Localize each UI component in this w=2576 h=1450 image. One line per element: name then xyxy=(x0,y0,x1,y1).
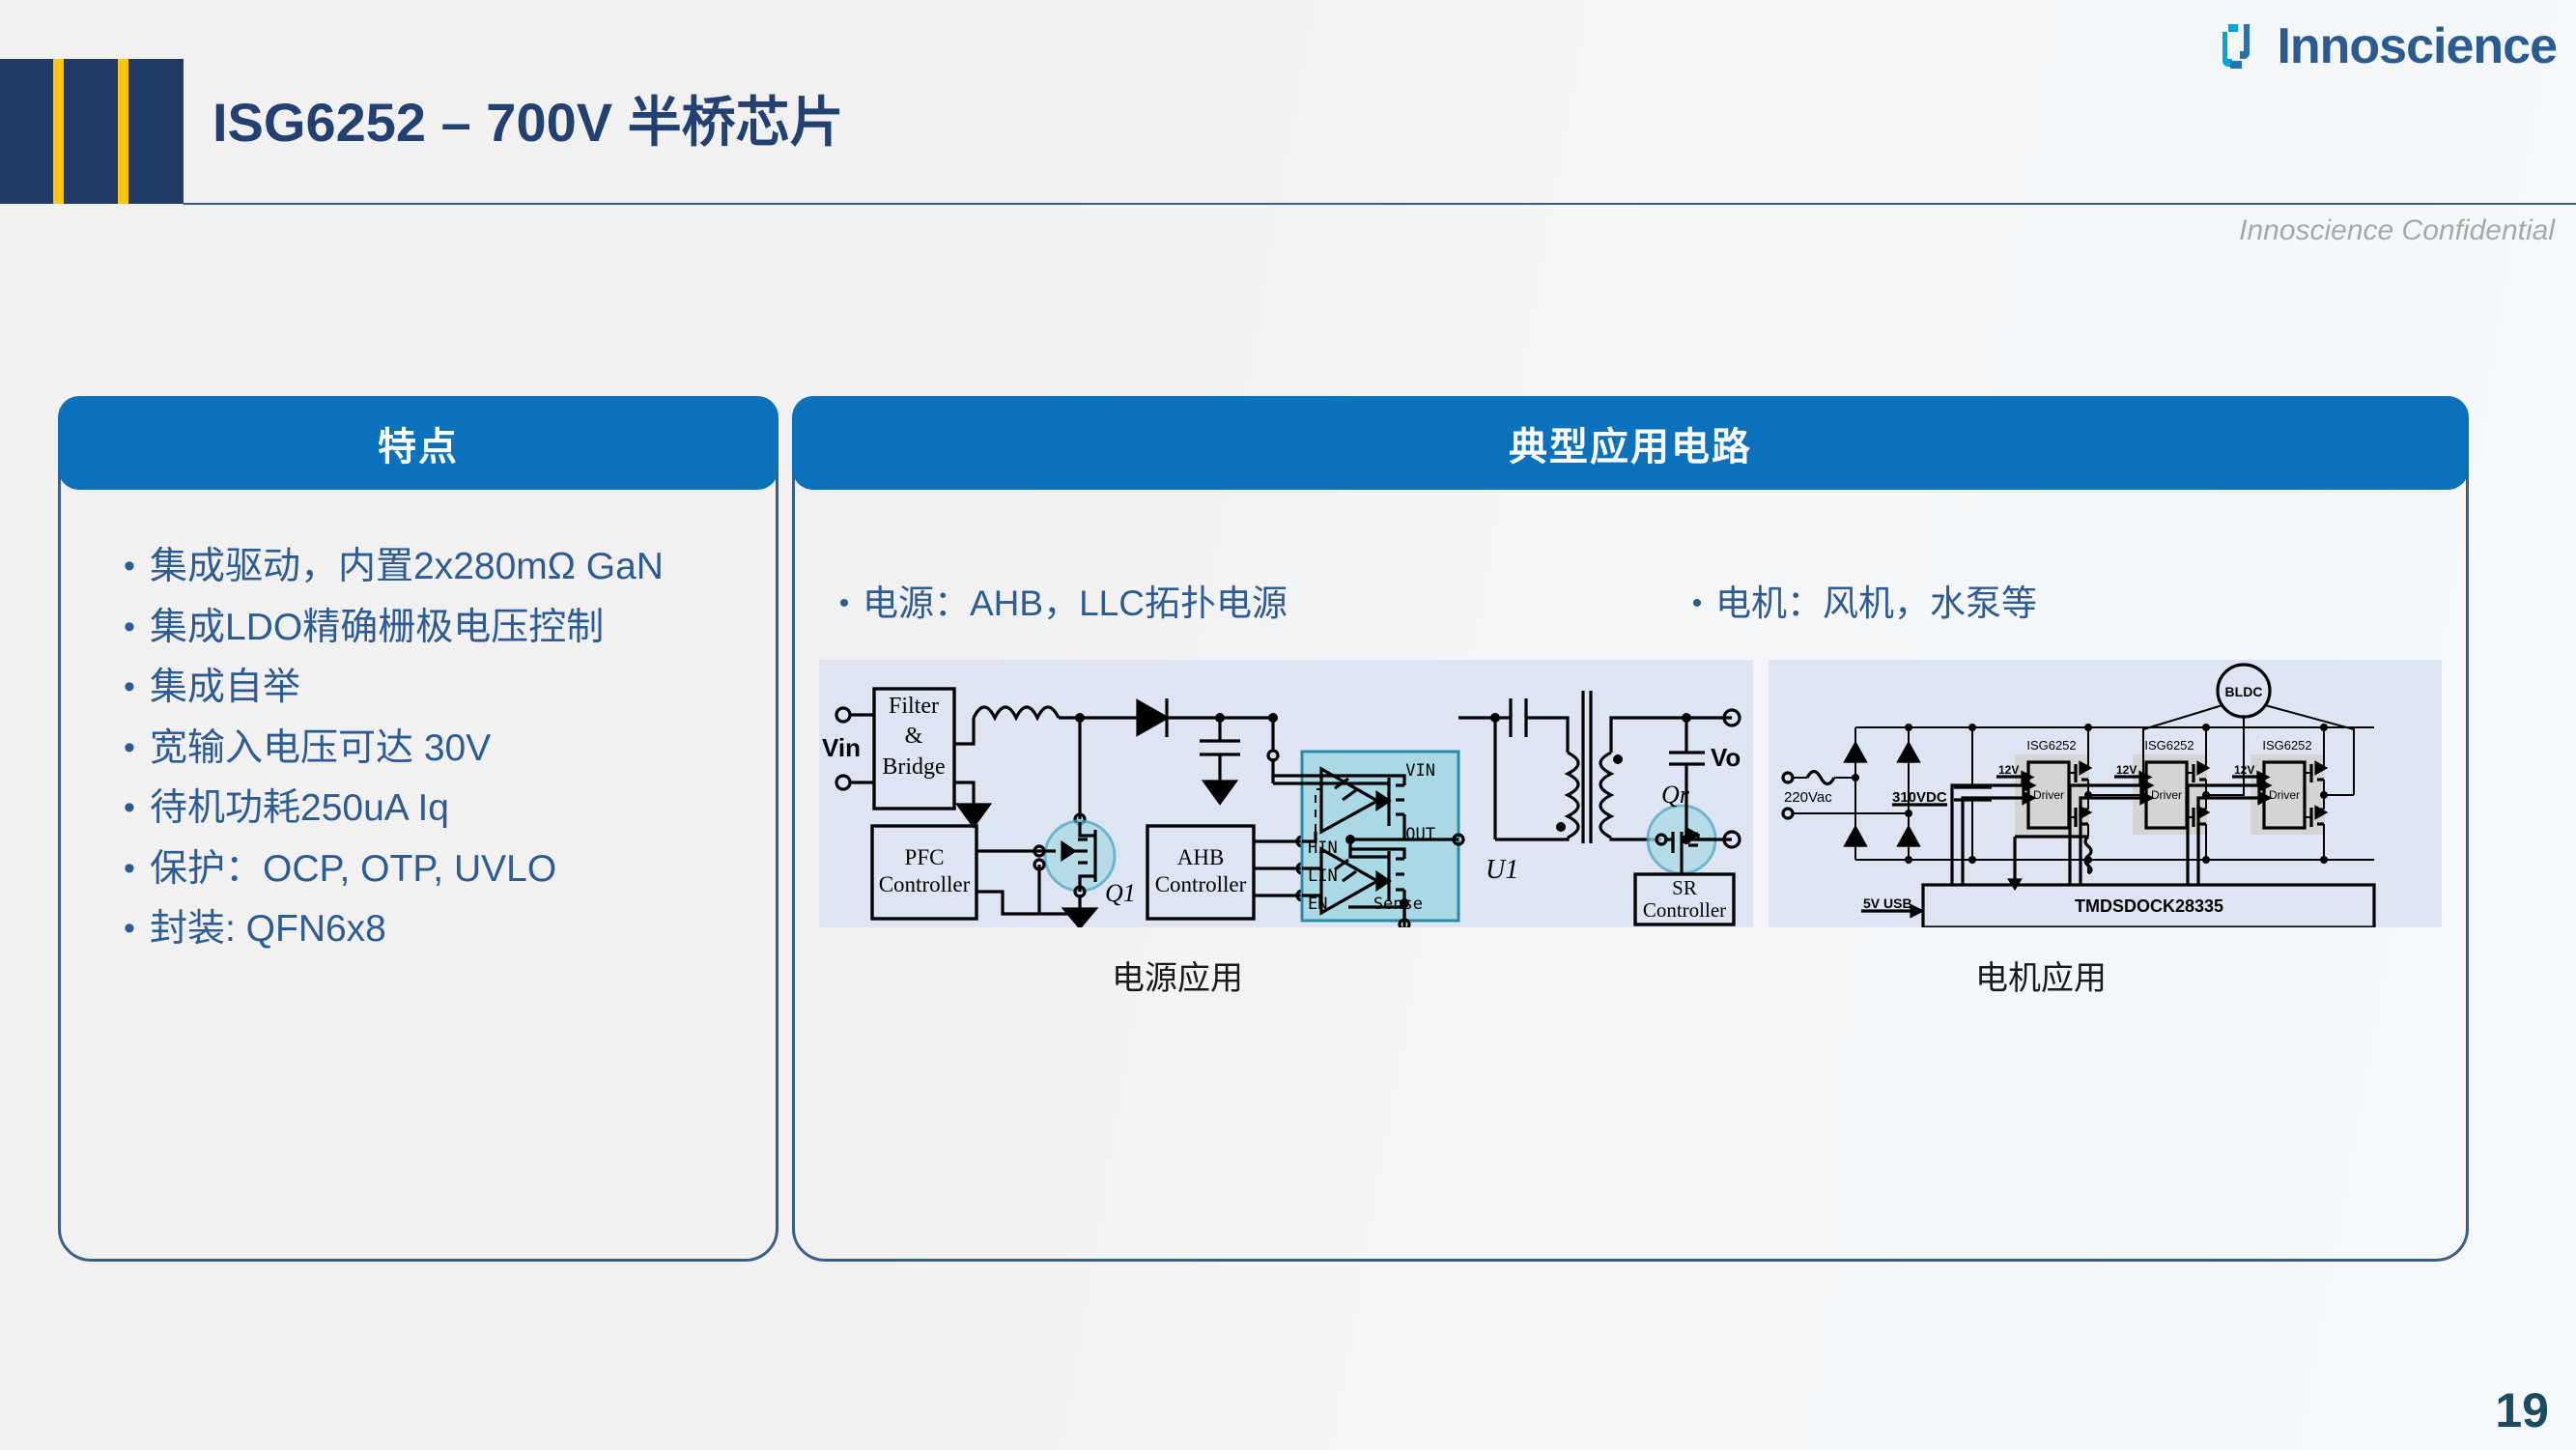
driver-label: Driver xyxy=(2033,788,2064,802)
label-vin: Vin xyxy=(822,733,861,762)
label-sr-2: Controller xyxy=(1643,898,1726,922)
list-item: • 保护：OCP, OTP, UVLO xyxy=(109,846,747,893)
motor-label: BLDC xyxy=(2225,684,2263,699)
title-stripe-left xyxy=(53,59,64,204)
rail-12v-label: 12V xyxy=(1998,763,2019,777)
label-ac-source: 220Vac xyxy=(1784,789,1832,806)
chip-label: ISG6252 xyxy=(2262,738,2311,753)
feature-label: 宽输入电压可达 30V xyxy=(150,725,491,772)
motor-diagram-caption: 电机应用 xyxy=(1975,952,2107,999)
bullet-icon: • xyxy=(109,906,150,945)
driver-label: Driver xyxy=(2151,788,2182,802)
list-item: • 待机功耗250uA Iq xyxy=(109,785,747,832)
feature-label: 集成自举 xyxy=(150,665,300,711)
label-vo: Vo xyxy=(1711,743,1741,772)
control-board-label: TMDSDOCK28335 xyxy=(2075,896,2223,916)
title-stripe-right xyxy=(118,59,128,204)
list-item: • 集成驱动，内置2x280mΩ GaN xyxy=(109,544,747,590)
power-circuit-diagram: Vin Filter & Bridge xyxy=(819,660,1753,927)
label-filter-3: Bridge xyxy=(882,754,945,780)
usb-5v-label: 5V USB xyxy=(1863,896,1912,911)
bullet-icon: • xyxy=(109,725,150,764)
chip-label: ISG6252 xyxy=(2144,738,2194,753)
feature-label: 待机功耗250uA Iq xyxy=(150,785,449,832)
applications-panel-heading: 典型应用电路 xyxy=(792,396,2469,490)
page-title: ISG6252 – 700V 半桥芯片 xyxy=(212,79,844,157)
label-pfc-2: Controller xyxy=(879,872,971,896)
bullet-icon: • xyxy=(109,605,150,643)
feature-label: 封装: QFN6x8 xyxy=(150,906,386,952)
driver-label: Driver xyxy=(2269,788,2300,802)
innoscience-mark-icon xyxy=(2207,18,2263,74)
pin-vin-label: VIN xyxy=(1405,761,1435,781)
label-sr-1: SR xyxy=(1672,876,1697,899)
power-diagram-caption: 电源应用 xyxy=(1112,952,1243,999)
title-accent-block xyxy=(0,59,184,204)
bullet-icon: • xyxy=(109,544,150,583)
list-item: • 封装: QFN6x8 xyxy=(109,906,747,952)
features-panel-heading: 特点 xyxy=(58,396,778,490)
label-pfc-1: PFC xyxy=(905,845,945,869)
bullet-icon: • xyxy=(109,785,150,824)
features-list: • 集成驱动，内置2x280mΩ GaN • 集成LDO精确栅极电压控制 • 集… xyxy=(109,544,747,967)
slide-header: ISG6252 – 700V 半桥芯片 Innoscience Innoscie… xyxy=(0,0,2576,205)
power-application-bullet: • 电源：AHB，LLC拓扑电源 xyxy=(826,583,1288,625)
feature-label: 集成驱动，内置2x280mΩ GaN xyxy=(150,544,664,590)
header-divider xyxy=(184,203,2576,205)
pin-out-label: OUT xyxy=(1405,825,1435,844)
feature-label: 保护：OCP, OTP, UVLO xyxy=(150,846,556,893)
rail-12v-label: 12V xyxy=(2116,763,2137,777)
list-item: • 集成LDO精确栅极电压控制 xyxy=(109,605,747,651)
pin-sense-label: Sense xyxy=(1373,895,1423,914)
feature-label: 集成LDO精确栅极电压控制 xyxy=(150,605,604,651)
label-ahb-1: AHB xyxy=(1177,845,1225,869)
label-filter-1: Filter xyxy=(889,694,939,719)
label-filter-2: & xyxy=(905,724,923,749)
brand-logo: Innoscience xyxy=(2207,15,2557,77)
label-u1: U1 xyxy=(1486,855,1518,885)
bullet-icon: • xyxy=(109,665,150,703)
motor-application-bullet: • 电机：风机，水泵等 xyxy=(1679,583,2037,625)
bullet-icon: • xyxy=(109,846,150,885)
motor-circuit-diagram: 220Vac xyxy=(1769,660,2442,927)
bullet-icon: • xyxy=(826,583,863,618)
list-item: • 宽输入电压可达 30V xyxy=(109,725,747,772)
features-panel: 特点 • 集成驱动，内置2x280mΩ GaN • 集成LDO精确栅极电压控制 … xyxy=(58,396,778,1262)
chip-label: ISG6252 xyxy=(2026,738,2076,753)
confidential-notice: Innoscience Confidential xyxy=(2239,214,2555,247)
page-number: 19 xyxy=(2495,1382,2549,1438)
bullet-icon: • xyxy=(1679,583,1715,618)
label-q1: Q1 xyxy=(1105,879,1136,907)
label-ahb-2: Controller xyxy=(1155,872,1247,896)
power-application-label: 电源：AHB，LLC拓扑电源 xyxy=(863,583,1288,625)
list-item: • 集成自举 xyxy=(109,665,747,711)
motor-application-label: 电机：风机，水泵等 xyxy=(1715,583,2037,625)
brand-name: Innoscience xyxy=(2277,21,2557,71)
applications-panel: 典型应用电路 • 电源：AHB，LLC拓扑电源 • 电机：风机，水泵等 Vin … xyxy=(792,396,2469,1262)
